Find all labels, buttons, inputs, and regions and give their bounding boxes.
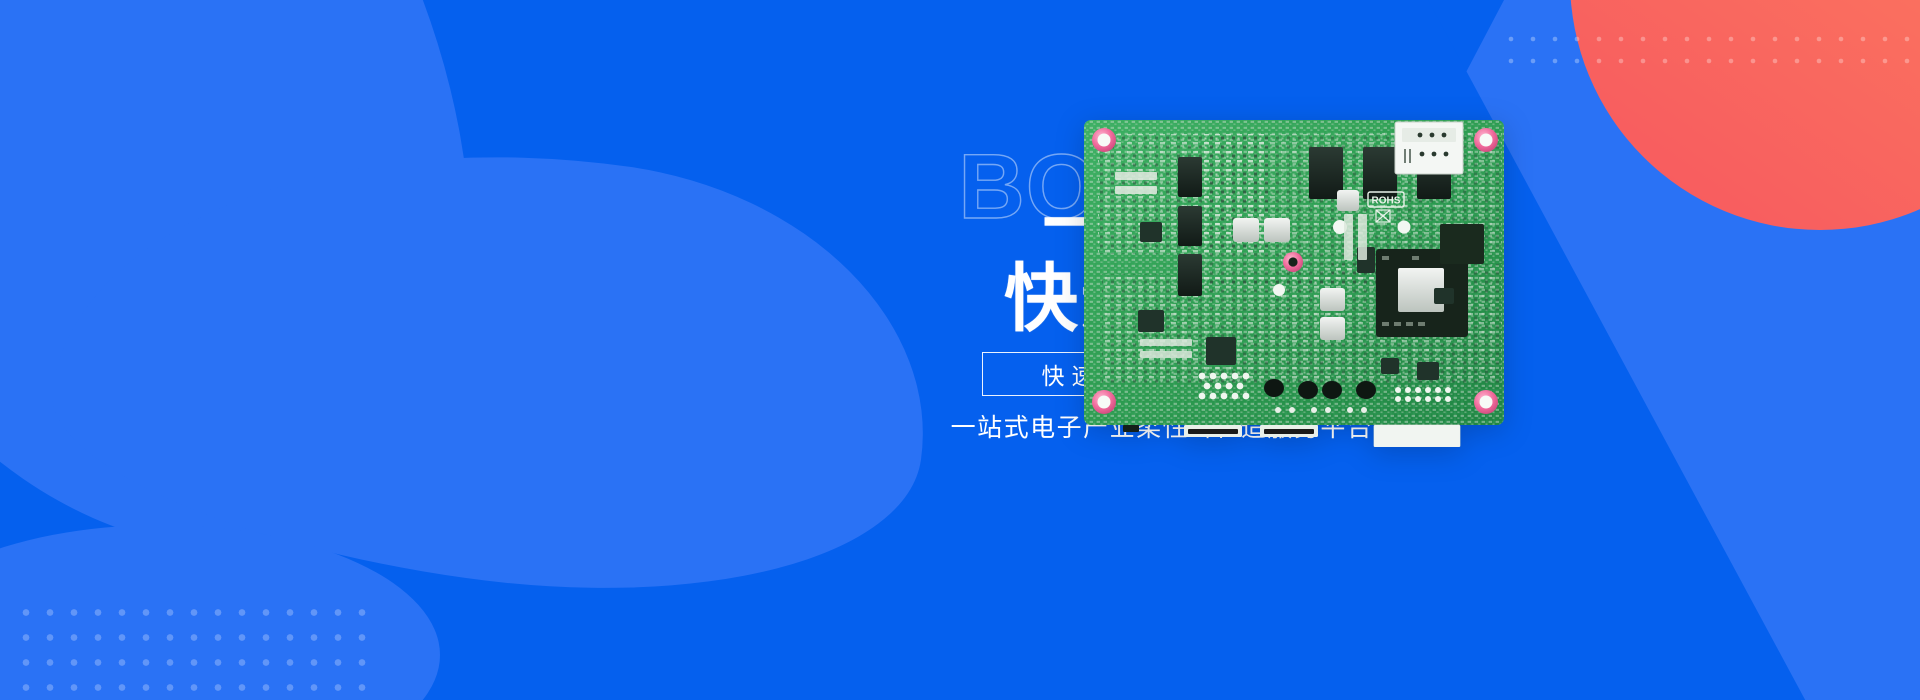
pcb-svg: ROHS [1082, 114, 1508, 447]
pcb-sim-card-slot [1395, 122, 1463, 174]
dot-grid-bottom-left [14, 600, 366, 692]
pcb-label-sticker [1374, 425, 1460, 447]
pcb-circuit-board-image: ROHS [1082, 114, 1508, 447]
promo-banner: BOMBOM 一分钟 快速报价 快速获取报价信息 一站式电子产业柔性“智”造服务… [0, 0, 1920, 700]
svg-text:ROHS: ROHS [1372, 196, 1401, 207]
pcb-controller-chip [1440, 224, 1484, 264]
dot-grid-top-right [1500, 28, 1920, 68]
